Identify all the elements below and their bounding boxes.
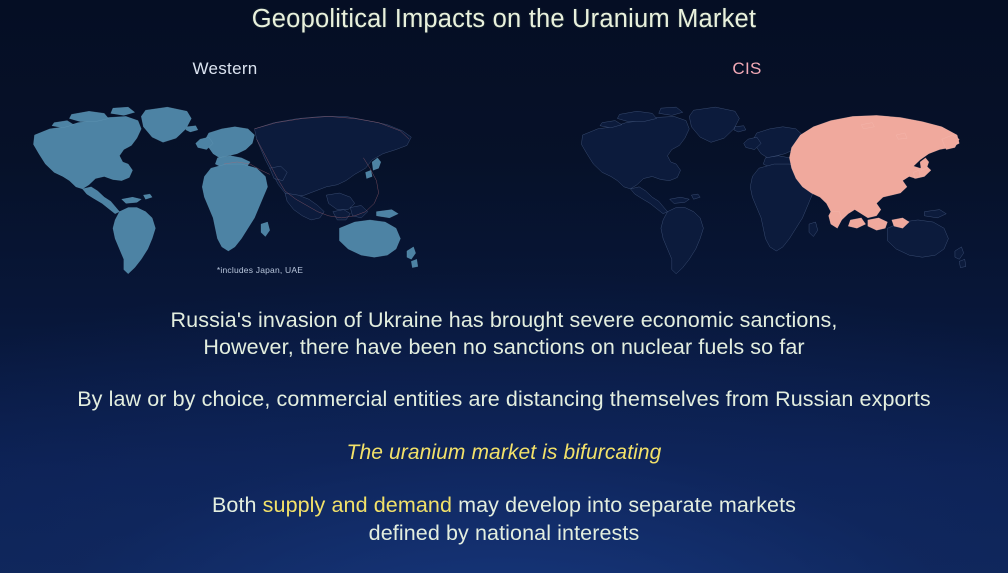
- body-line-5-suffix: may develop into separate markets: [452, 493, 796, 517]
- world-map-cis-svg: [576, 104, 968, 280]
- world-map-western: [28, 104, 420, 280]
- world-map-western-svg: [28, 104, 420, 280]
- western-dim-landmasses: [254, 116, 411, 220]
- page-title: Geopolitical Impacts on the Uranium Mark…: [0, 5, 1008, 34]
- body-line-4-emphasis: The uranium market is bifurcating: [0, 441, 1008, 465]
- body-line-3: By law or by choice, commercial entities…: [0, 387, 1008, 412]
- body-line-5-prefix: Both: [212, 493, 263, 517]
- slide-canvas: Geopolitical Impacts on the Uranium Mark…: [0, 0, 1008, 573]
- body-line-6: defined by national interests: [0, 521, 1008, 546]
- body-line-1: Russia's invasion of Ukraine has brought…: [0, 308, 1008, 333]
- body-line-5: Both supply and demand may develop into …: [0, 493, 1008, 518]
- body-line-5-highlight: supply and demand: [263, 493, 452, 517]
- map-footnote-western: *includes Japan, UAE: [150, 265, 370, 275]
- world-map-cis: [576, 104, 968, 280]
- body-line-2: However, there have been no sanctions on…: [0, 335, 1008, 360]
- map-label-cis: CIS: [632, 59, 862, 79]
- map-label-western: Western: [110, 59, 340, 79]
